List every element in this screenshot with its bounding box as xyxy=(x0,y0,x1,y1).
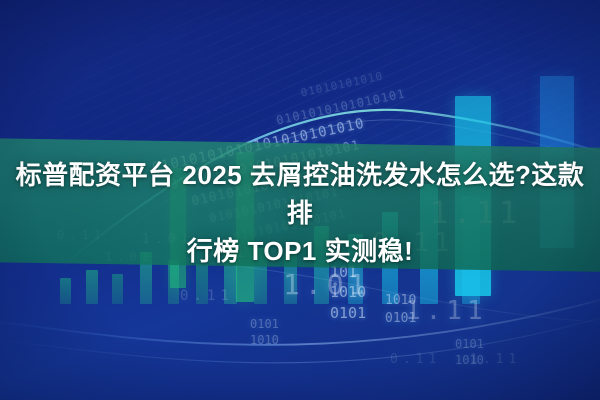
headline-line-1: 标普配资平台 2025 去屑控油洗发水怎么选?这款排 xyxy=(16,160,585,228)
decimal-digit: 0.11 xyxy=(180,288,234,304)
promo-banner: 01010101010101010101010 0101010101010101… xyxy=(0,0,600,400)
chart-bar xyxy=(112,274,123,304)
decimal-digit: 1.01 xyxy=(283,268,370,301)
decimal-digit: 0.11 xyxy=(390,352,441,367)
chart-bar xyxy=(86,270,98,304)
page-title: 标普配资平台 2025 去屑控油洗发水怎么选?这款排 行榜 TOP1 实测稳! xyxy=(0,156,600,270)
decimal-digit: 1.11 xyxy=(405,296,488,326)
chart-bar xyxy=(60,278,71,304)
headline-line-2: 行榜 TOP1 实测稳! xyxy=(6,232,594,270)
binary-block: 0101 1010 xyxy=(250,316,279,348)
decimal-digit: 1.11 xyxy=(470,352,521,367)
